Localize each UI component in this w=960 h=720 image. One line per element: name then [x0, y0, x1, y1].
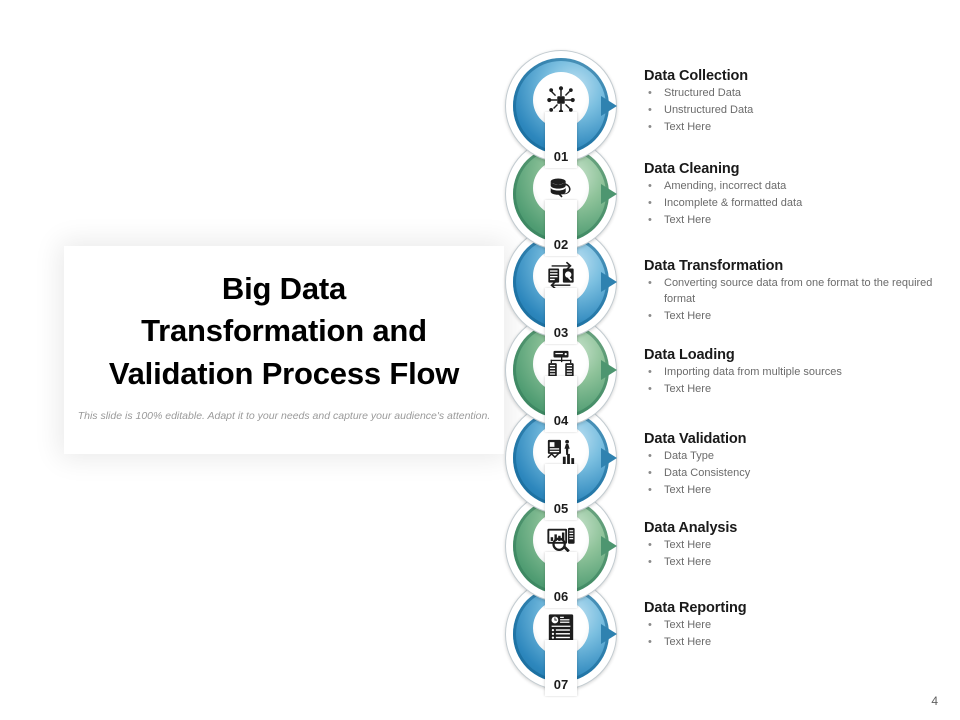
- step-title: Data Reporting: [644, 600, 944, 616]
- bullet-text: Text Here: [664, 539, 711, 551]
- list-item: •Text Here: [644, 483, 944, 499]
- step-arrow-icon: [601, 360, 617, 380]
- list-item: •Amending, incorrect data: [644, 179, 944, 195]
- bullet-dot-icon: •: [648, 466, 652, 482]
- page-title-line-3: Validation Process Flow: [64, 353, 504, 395]
- bullet-text: Text Here: [664, 383, 711, 395]
- list-item: •Text Here: [644, 213, 944, 229]
- bullet-dot-icon: •: [648, 86, 652, 102]
- step-arrow-icon: [601, 448, 617, 468]
- step-title: Data Analysis: [644, 520, 944, 536]
- step-bullet-list: •Importing data from multiple sources•Te…: [644, 365, 944, 398]
- bullet-dot-icon: •: [648, 103, 652, 119]
- process-step-description-05: Data Validation•Data Type•Data Consisten…: [644, 431, 944, 500]
- step-number-badge: 02: [545, 200, 577, 256]
- bullet-dot-icon: •: [648, 555, 652, 571]
- bullet-text: Data Type: [664, 450, 714, 462]
- list-item: •Text Here: [644, 635, 944, 651]
- step-number-badge: 05: [545, 464, 577, 520]
- step-arrow-icon: [601, 184, 617, 204]
- process-step-description-06: Data Analysis•Text Here•Text Here: [644, 520, 944, 572]
- step-arrow-icon: [601, 272, 617, 292]
- list-item: •Text Here: [644, 382, 944, 398]
- list-item: •Text Here: [644, 618, 944, 634]
- bullet-text: Converting source data from one format t…: [664, 277, 932, 305]
- bullet-text: Text Here: [664, 484, 711, 496]
- page-subtitle: This slide is 100% editable. Adapt it to…: [64, 409, 504, 424]
- step-title: Data Loading: [644, 347, 944, 363]
- process-step-descriptions: Data Collection•Structured Data•Unstruct…: [644, 0, 944, 720]
- bullet-text: Text Here: [664, 636, 711, 648]
- bullet-dot-icon: •: [648, 382, 652, 398]
- bullet-text: Importing data from multiple sources: [664, 366, 842, 378]
- bullet-text: Text Here: [664, 619, 711, 631]
- step-arrow-icon: [601, 96, 617, 116]
- process-step-description-02: Data Cleaning•Amending, incorrect data•I…: [644, 161, 944, 230]
- step-arrow-icon: [601, 536, 617, 556]
- bullet-dot-icon: •: [648, 196, 652, 212]
- process-step-chain: 01 02 03: [505, 50, 635, 670]
- step-bullet-list: •Converting source data from one format …: [644, 276, 944, 325]
- step-bullet-list: •Data Type•Data Consistency•Text Here: [644, 449, 944, 499]
- bullet-text: Text Here: [664, 310, 711, 322]
- bullet-text: Structured Data: [664, 87, 741, 99]
- list-item: •Data Consistency: [644, 466, 944, 482]
- page-title-line-2: Transformation and: [64, 310, 504, 352]
- list-item: •Text Here: [644, 555, 944, 571]
- step-title: Data Validation: [644, 431, 944, 447]
- bullet-dot-icon: •: [648, 449, 652, 465]
- page-title: Big Data Transformation and Validation P…: [64, 268, 504, 395]
- bullet-dot-icon: •: [648, 276, 652, 292]
- step-number-badge: 03: [545, 288, 577, 344]
- page-number: 4: [931, 694, 938, 708]
- title-card: Big Data Transformation and Validation P…: [64, 246, 504, 454]
- bullet-dot-icon: •: [648, 483, 652, 499]
- step-title: Data Cleaning: [644, 161, 944, 177]
- step-bullet-list: •Text Here•Text Here: [644, 538, 944, 571]
- step-arrow-icon: [601, 624, 617, 644]
- bullet-text: Data Consistency: [664, 467, 750, 479]
- list-item: •Text Here: [644, 538, 944, 554]
- list-item: •Importing data from multiple sources: [644, 365, 944, 381]
- bullet-text: Amending, incorrect data: [664, 180, 786, 192]
- step-title: Data Transformation: [644, 258, 944, 274]
- process-step-description-01: Data Collection•Structured Data•Unstruct…: [644, 68, 944, 137]
- step-bullet-list: •Structured Data•Unstructured Data•Text …: [644, 86, 944, 136]
- bullet-dot-icon: •: [648, 120, 652, 136]
- step-number-badge: 01: [545, 112, 577, 168]
- bullet-dot-icon: •: [648, 538, 652, 554]
- bullet-text: Unstructured Data: [664, 104, 753, 116]
- bullet-text: Text Here: [664, 121, 711, 133]
- bullet-dot-icon: •: [648, 309, 652, 325]
- bullet-dot-icon: •: [648, 365, 652, 381]
- bullet-text: Text Here: [664, 556, 711, 568]
- list-item: •Unstructured Data: [644, 103, 944, 119]
- list-item: •Converting source data from one format …: [644, 276, 944, 308]
- bullet-text: Incomplete & formatted data: [664, 197, 802, 209]
- bullet-dot-icon: •: [648, 213, 652, 229]
- list-item: •Text Here: [644, 120, 944, 136]
- step-number-badge: 04: [545, 376, 577, 432]
- bullet-dot-icon: •: [648, 635, 652, 651]
- process-step-node-01[interactable]: 01: [505, 50, 617, 162]
- step-title: Data Collection: [644, 68, 944, 84]
- list-item: •Text Here: [644, 309, 944, 325]
- title-card-inner: Big Data Transformation and Validation P…: [64, 268, 504, 425]
- list-item: •Data Type: [644, 449, 944, 465]
- step-bullet-list: •Amending, incorrect data•Incomplete & f…: [644, 179, 944, 229]
- bullet-dot-icon: •: [648, 618, 652, 634]
- bullet-dot-icon: •: [648, 179, 652, 195]
- step-number-badge: 07: [545, 640, 577, 696]
- list-item: •Incomplete & formatted data: [644, 196, 944, 212]
- process-step-description-04: Data Loading•Importing data from multipl…: [644, 347, 944, 399]
- step-bullet-list: •Text Here•Text Here: [644, 618, 944, 651]
- step-number-badge: 06: [545, 552, 577, 608]
- page-title-line-1: Big Data: [64, 268, 504, 310]
- process-step-description-03: Data Transformation•Converting source da…: [644, 258, 944, 326]
- list-item: •Structured Data: [644, 86, 944, 102]
- bullet-text: Text Here: [664, 214, 711, 226]
- process-step-description-07: Data Reporting•Text Here•Text Here: [644, 600, 944, 652]
